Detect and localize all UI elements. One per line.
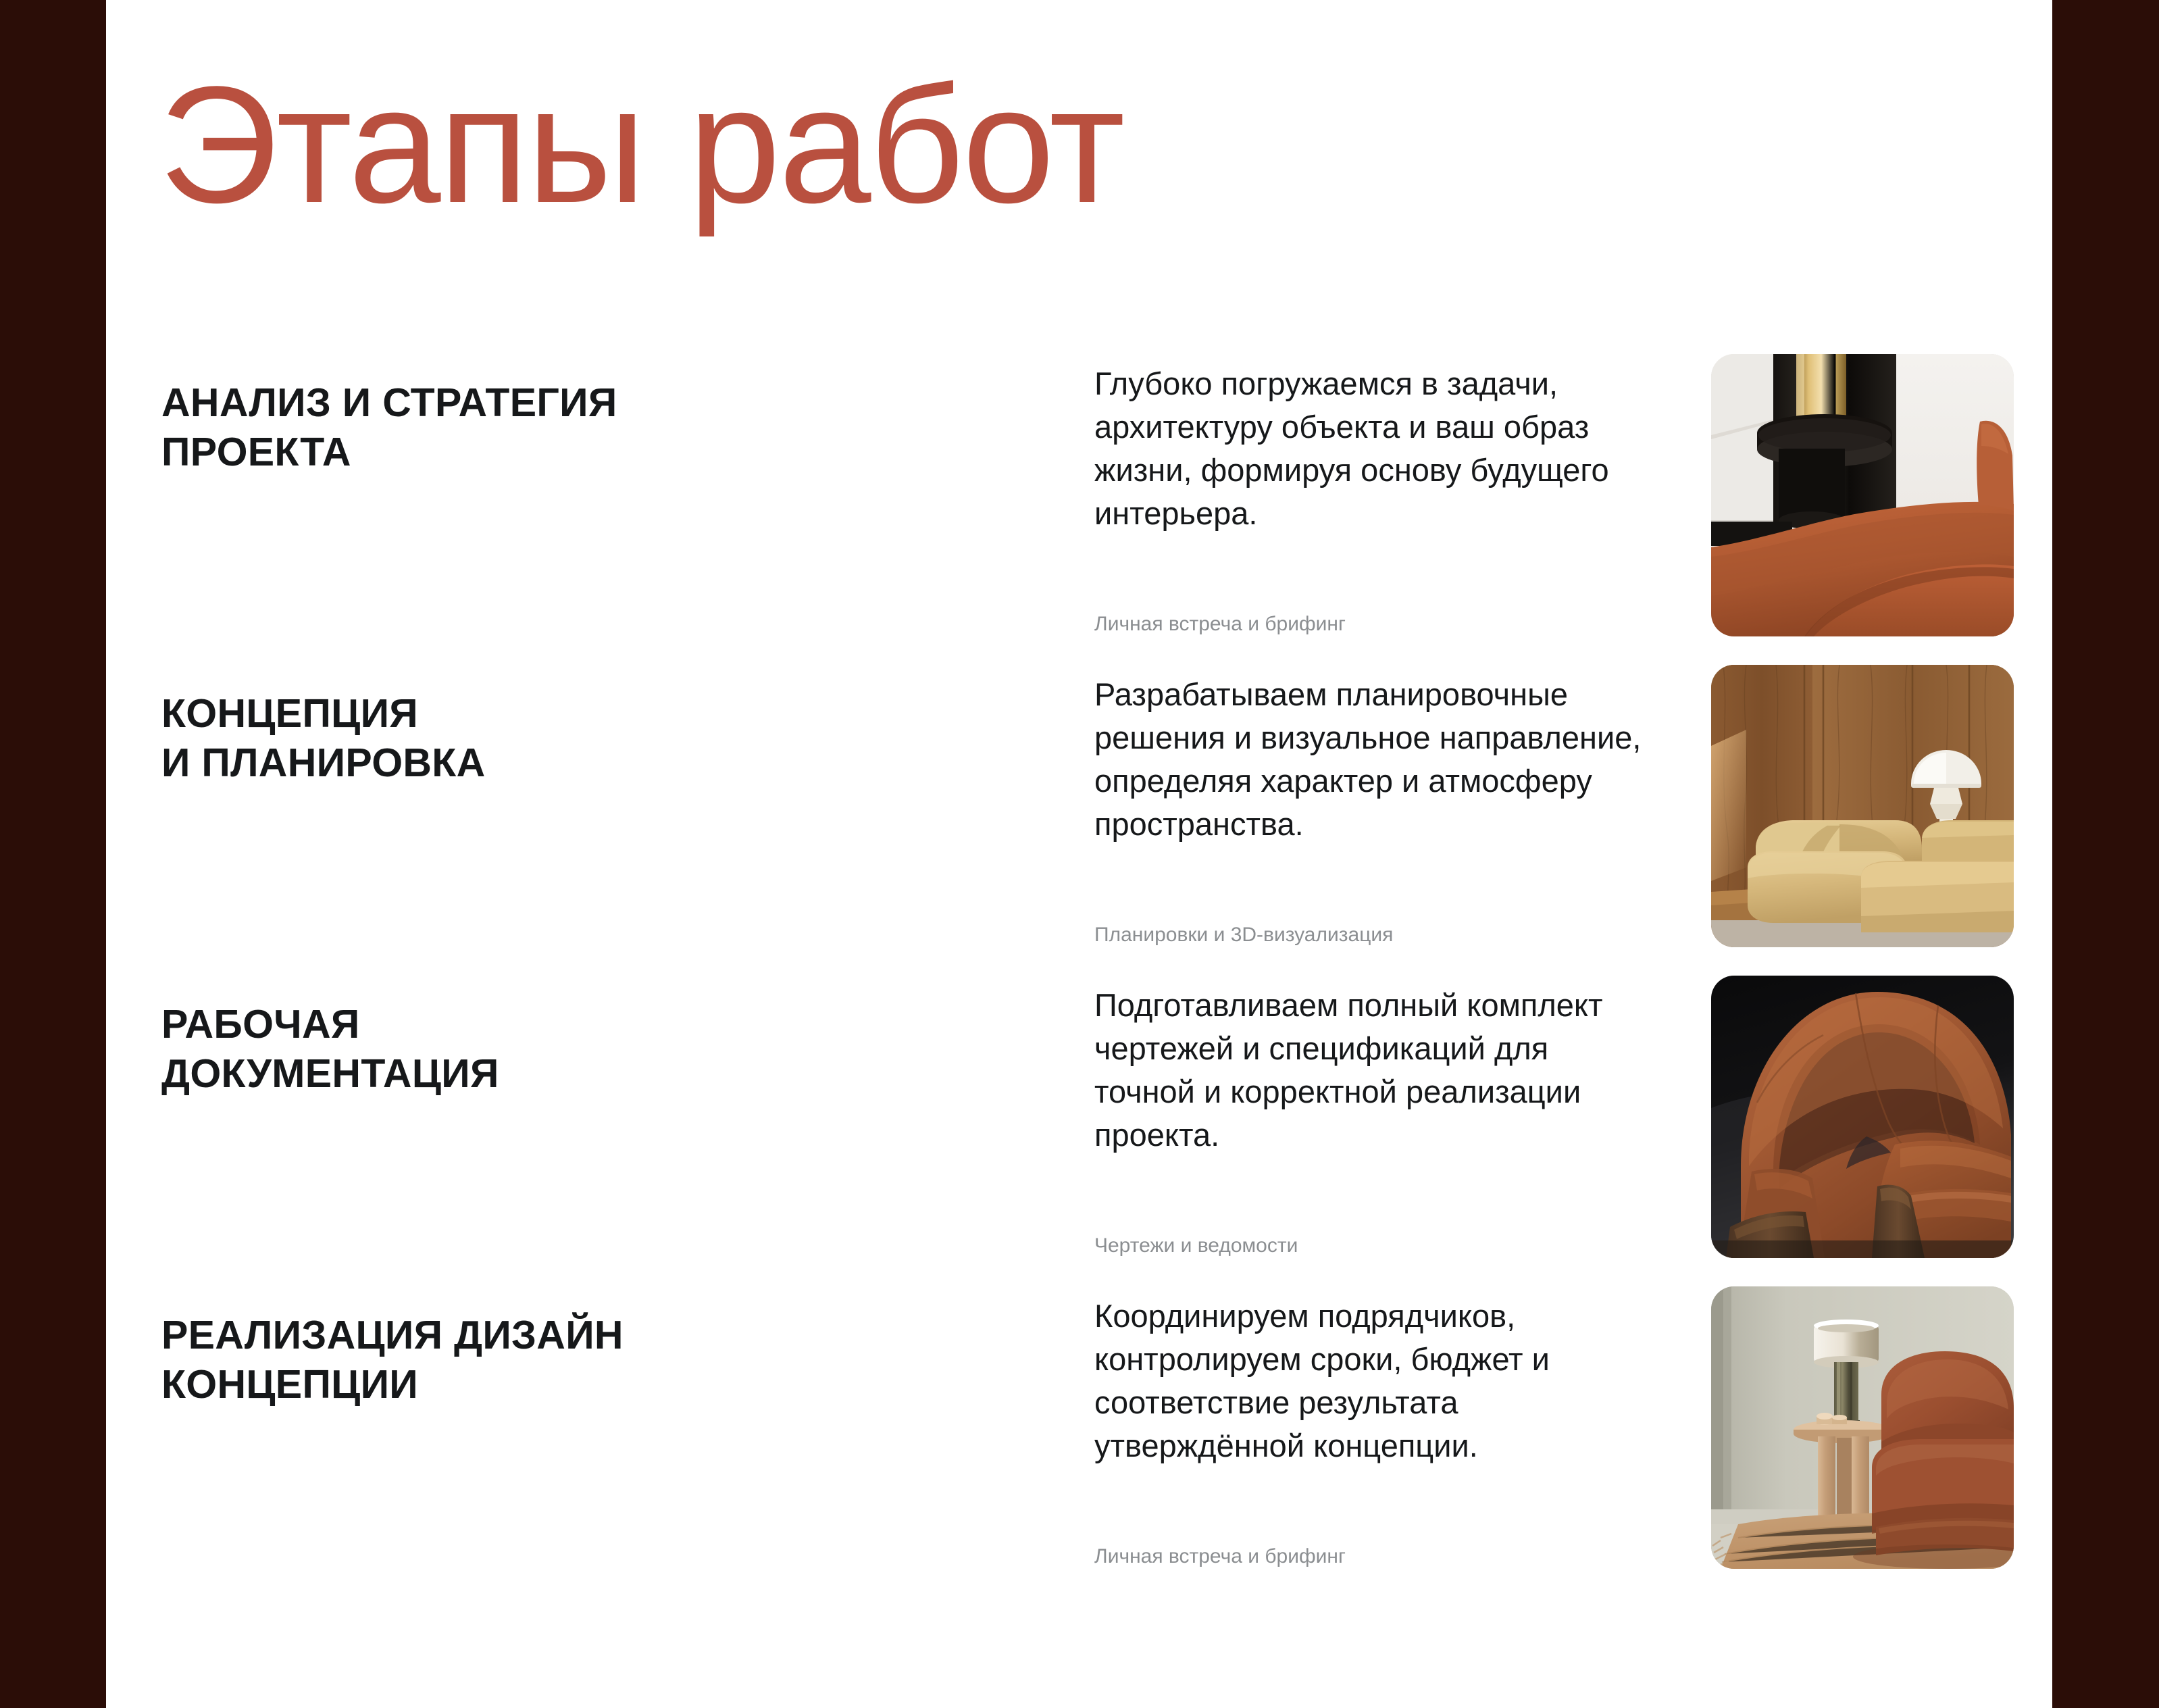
right-frame-band: [2052, 0, 2159, 1708]
slide-root: Этапы работ АНАЛИЗ И СТРАТЕГИЯ ПРОЕКТА Г…: [0, 0, 2159, 1708]
stage-image-rust-boucle-armchair-wooden-side-table-jute-rug: [1711, 1286, 2014, 1569]
stage-row: РЕАЛИЗАЦИЯ ДИЗАЙН КОНЦЕПЦИИ Координируем…: [106, 1281, 2052, 1592]
stage-title: РАБОЧАЯ ДОКУМЕНТАЦИЯ: [161, 1000, 972, 1099]
slide-canvas: Этапы работ АНАЛИЗ И СТРАТЕГИЯ ПРОЕКТА Г…: [106, 0, 2052, 1708]
stage-caption: Личная встреча и брифинг: [1094, 1543, 1655, 1569]
stage-description: Разрабатываем планировочные решения и ви…: [1094, 673, 1655, 846]
stage-row: РАБОЧАЯ ДОКУМЕНТАЦИЯ Подготавливаем полн…: [106, 970, 2052, 1281]
stage-caption: Личная встреча и брифинг: [1094, 611, 1655, 637]
left-frame-band: [0, 0, 106, 1708]
stage-row: КОНЦЕПЦИЯ И ПЛАНИРОВКА Разрабатываем пла…: [106, 659, 2052, 970]
stage-row: АНАЛИЗ И СТРАТЕГИЯ ПРОЕКТА Глубоко погру…: [106, 349, 2052, 659]
stage-title: РЕАЛИЗАЦИЯ ДИЗАЙН КОНЦЕПЦИИ: [161, 1311, 972, 1409]
stage-description: Глубоко погружаемся в задачи, архитектур…: [1094, 362, 1655, 535]
stage-title: КОНЦЕПЦИЯ И ПЛАНИРОВКА: [161, 689, 972, 788]
stage-image-brown-suede-armchair-dark-background: [1711, 976, 2014, 1258]
stage-image-terracotta-sofa-with-black-side-table: [1711, 354, 2014, 636]
stage-caption: Планировки и 3D-визуализация: [1094, 922, 1655, 948]
stage-title: АНАЛИЗ И СТРАТЕГИЯ ПРОЕКТА: [161, 378, 972, 477]
stage-description: Координируем подрядчиков, контролируем с…: [1094, 1295, 1655, 1467]
page-title: Этапы работ: [159, 62, 1123, 228]
stage-image-beige-modular-sofa-wood-wall-mushroom-lamp: [1711, 665, 2014, 947]
stage-description: Подготавливаем полный комплект чертежей …: [1094, 984, 1655, 1157]
stage-caption: Чертежи и ведомости: [1094, 1232, 1655, 1259]
